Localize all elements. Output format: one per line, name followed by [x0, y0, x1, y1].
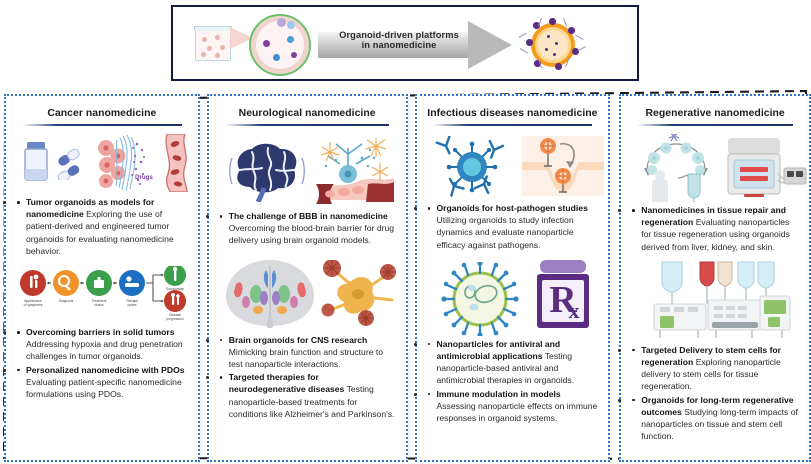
panel-title: Regenerative nanomedicine: [630, 103, 800, 124]
cancer-art-top: Drugs: [15, 130, 189, 196]
list-item: Personalized nanomedicine with PDOs Eval…: [15, 364, 189, 401]
list-item: Tumor organoids as models for nanomedici…: [15, 196, 189, 257]
brain-coronal-section-icon: [222, 258, 318, 328]
arrow-label-line1: Organoid-driven platforms: [324, 30, 474, 40]
figure-root: Organoid-driven platforms in nanomedicin…: [0, 0, 811, 464]
neuron-with-amyloid-plaques-icon: [320, 260, 400, 326]
bullet-body: Evaluating patient-specific nanomedicine…: [26, 377, 182, 399]
list-item: Organoids for host-pathogen studies Util…: [426, 202, 600, 251]
neuro-art-top: [218, 130, 397, 210]
pill-bottle-icon: [23, 142, 49, 182]
organoid-sphere-icon: [249, 14, 311, 76]
title-underline: [637, 124, 793, 126]
bullet-heading: Overcoming barriers in solid tumors: [26, 327, 175, 337]
title-underline: [432, 124, 592, 126]
drugs-label: Drugs: [135, 174, 153, 181]
list-item: Nanoparticles for antiviral and antimicr…: [426, 338, 600, 387]
cancer-bullet-list-top: Tumor organoids as models for nanomedici…: [15, 196, 189, 258]
bullet-heading: Personalized nanomedicine with PDOs: [26, 365, 185, 375]
brain-icon: [228, 140, 306, 202]
blood-vessel-icon: [161, 134, 191, 192]
bullet-body: Assessing nanoparticle effects on immune…: [437, 401, 598, 423]
neuro-bullet-list-top: The challenge of BBB in nanomedicine Ove…: [218, 210, 397, 248]
panel-infectious-diseases-nanomedicine: Infectious diseases nanomedicine: [415, 94, 611, 462]
bullet-heading: Nanoparticles for antiviral and antimicr…: [437, 339, 561, 361]
arrow-label-line2: in nanomedicine: [324, 40, 474, 50]
stem-cell-therapy-cycle-icon: [634, 134, 720, 202]
list-item: Organoids for long-term regenerative out…: [630, 394, 800, 443]
right-arrow-icon: Organoid-driven platforms in nanomedicin…: [318, 21, 518, 69]
neuron-astrocyte-bbb-icon: [310, 138, 396, 206]
infectious-bullet-list-top: Organoids for host-pathogen studies Util…: [426, 202, 600, 252]
list-item: Brain organoids for CNS research Mimicki…: [218, 334, 397, 371]
bullet-body: Addressing hypoxia and drug penetration …: [26, 339, 183, 361]
infectious-bullet-list-bottom: Nanoparticles for antiviral and antimicr…: [426, 338, 600, 425]
list-item: Targeted therapies for neurodegenerative…: [218, 371, 397, 420]
lab-incubator-icon: [722, 134, 810, 202]
panel-title: Cancer nanomedicine: [15, 103, 189, 124]
regen-bullet-list-top: Nanomedicines in tissue repair and regen…: [630, 204, 800, 254]
cancer-bullet-list-bottom: Overcoming barriers in solid tumors Addr…: [15, 326, 189, 401]
svg-text:progression: progression: [166, 317, 183, 321]
svg-text:x: x: [568, 298, 579, 323]
cell-culture-dish-icon: [195, 30, 231, 61]
svg-text:of symptoms: of symptoms: [24, 303, 43, 307]
list-item: Immune modulation in models Assessing na…: [426, 388, 600, 425]
receptor-mediated-endocytosis-icon: [522, 136, 604, 196]
title-underline: [22, 124, 182, 126]
bullet-body: Mimicking brain function and structure t…: [229, 347, 383, 369]
panel-title: Neurological nanomedicine: [218, 103, 397, 124]
regen-art-mid: [630, 258, 800, 344]
panels-row: Cancer nanomedicine: [0, 94, 811, 462]
virus-with-antibodies-icon: [432, 136, 518, 198]
svg-text:choice: choice: [94, 303, 104, 307]
prescription-rx-bottle-icon: R x: [534, 260, 596, 332]
svg-text:cycles: cycles: [127, 303, 137, 307]
capsules-icon: [55, 148, 89, 180]
top-banner: Organoid-driven platforms in nanomedicin…: [171, 5, 639, 81]
regen-art-top: [630, 130, 800, 204]
bullet-heading: Immune modulation in models: [437, 389, 561, 399]
enveloped-virus-icon: [434, 262, 526, 336]
bullet-body: Utilizing organoids to study infection d…: [437, 215, 574, 249]
title-underline: [225, 124, 389, 126]
bioreactor-perfusion-system-icon: [652, 260, 792, 342]
tumor-cells-drug-diffusion-icon: Drugs: [97, 134, 165, 192]
bullet-heading: The challenge of BBB in nanomedicine: [229, 211, 388, 221]
list-item: Nanomedicines in tissue repair and regen…: [630, 204, 800, 253]
neuro-art-mid: [218, 256, 397, 334]
panel-title: Infectious diseases nanomedicine: [426, 103, 600, 124]
bullet-body: Overcoming the blood-brain barrier for d…: [229, 223, 394, 245]
infectious-art-mid: R x: [426, 260, 600, 338]
bullet-heading: Organoids for host-pathogen studies: [437, 203, 588, 213]
list-item: The challenge of BBB in nanomedicine Ove…: [218, 210, 397, 247]
nanoparticle-icon: [525, 17, 581, 73]
neuro-bullet-list-bottom: Brain organoids for CNS research Mimicki…: [218, 334, 397, 421]
patient-journey-flow-icon: Appearanceof symptoms Diagnosis Treatmen…: [15, 264, 189, 326]
bullet-heading: Targeted therapies for neurodegenerative…: [229, 372, 345, 394]
regen-bullet-list-bottom: Targeted Delivery to stem cells for rege…: [630, 344, 800, 444]
bullet-heading: Brain organoids for CNS research: [229, 335, 368, 345]
svg-text:Diagnosis: Diagnosis: [59, 299, 74, 303]
infectious-art-top: [426, 130, 600, 202]
list-item: Overcoming barriers in solid tumors Addr…: [15, 326, 189, 363]
svg-text:Survivorship: Survivorship: [166, 287, 184, 291]
panel-regenerative-nanomedicine: Regenerative nanomedicine: [619, 94, 811, 462]
panel-neurological-nanomedicine: Neurological nanomedicine: [207, 94, 408, 462]
panel-cancer-nanomedicine: Cancer nanomedicine: [4, 94, 200, 462]
list-item: Targeted Delivery to stem cells for rege…: [630, 344, 800, 393]
